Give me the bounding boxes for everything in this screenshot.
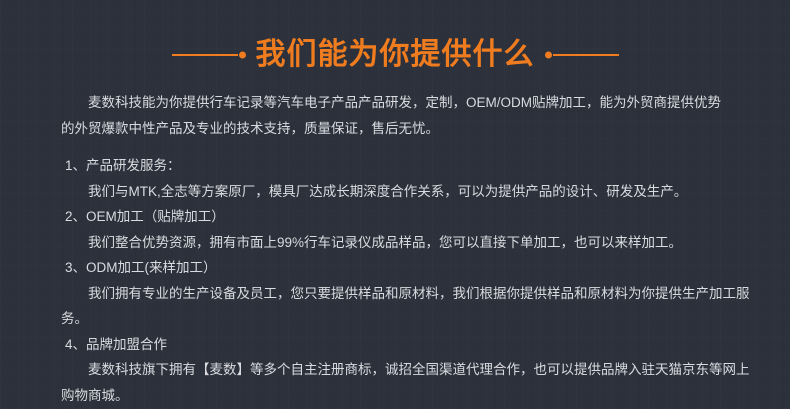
list-item: 1、产品研发服务： 我们与MTK,全志等方案原厂，模具厂达成长期深度合作关系，可… [61,153,751,204]
list-item: 3、ODM加工(来样加工） 我们拥有专业的生产设备及员工，您只要提供样品和原材料… [61,255,751,332]
list-item: 2、OEM加工（贴牌加工） 我们整合优势资源，拥有市面上99%行车记录仪成品样品… [61,204,751,255]
promo-banner: 我们能为你提供什么 麦数科技能为你提供行车记录等汽车电子产品产品研发，定制，OE… [0,0,790,409]
service-description: 我们与MTK,全志等方案原厂，模具厂达成长期深度合作关系，可以为提供产品的设计、… [61,179,751,205]
services-list: 1、产品研发服务： 我们与MTK,全志等方案原厂，模具厂达成长期深度合作关系，可… [61,153,751,408]
service-title: 1、产品研发服务： [61,153,751,179]
intro-paragraph: 麦数科技能为你提供行车记录等汽车电子产品产品研发，定制，OEM/ODM贴牌加工，… [61,90,729,142]
service-description: 麦数科技旗下拥有【麦数】等多个自主注册商标，诚招全国渠道代理合作，也可以提供品牌… [61,357,751,408]
section-heading: 我们能为你提供什么 [0,34,790,76]
service-description: 我们拥有专业的生产设备及员工，您只要提供样品和原材料，我们根据你提供样品和原材料… [61,281,751,332]
service-title: 4、品牌加盟合作 [61,332,751,358]
service-title: 3、ODM加工(来样加工） [61,255,751,281]
list-item: 4、品牌加盟合作 麦数科技旗下拥有【麦数】等多个自主注册商标，诚招全国渠道代理合… [61,332,751,409]
page-title: 我们能为你提供什么 [256,40,535,70]
service-title: 2、OEM加工（贴牌加工） [61,204,751,230]
decorative-line-right-icon [553,54,619,56]
decorative-line-left-icon [172,54,238,56]
intro-block: 麦数科技能为你提供行车记录等汽车电子产品产品研发，定制，OEM/ODM贴牌加工，… [61,90,729,142]
service-description: 我们整合优势资源，拥有市面上99%行车记录仪成品样品，您可以直接下单加工，也可以… [61,230,751,256]
